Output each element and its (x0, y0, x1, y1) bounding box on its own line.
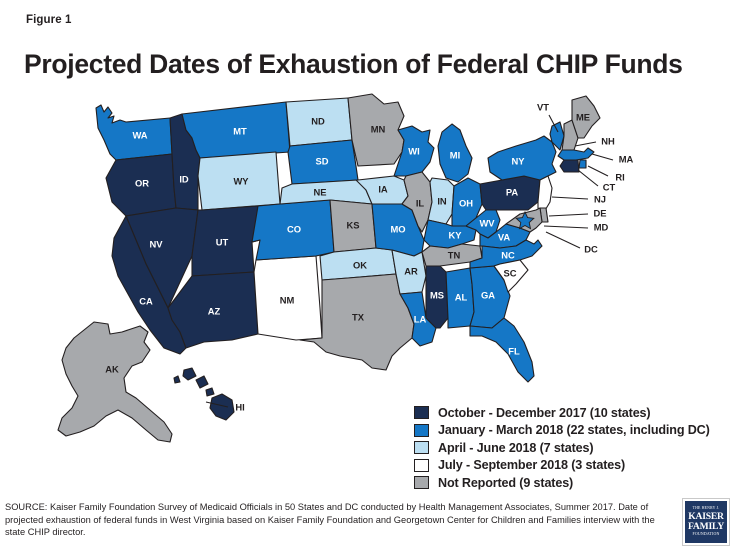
legend-label-apr-jun-2018: April - June 2018 (7 states) (438, 441, 593, 455)
legend-swatch-jan-mar-2018 (414, 424, 429, 437)
svg-text:RI: RI (615, 171, 624, 182)
map-states: WA OR ID MT WY NV UT CA AZ NM CO ND SD N… (58, 94, 600, 442)
kff-logo-inner: THE HENRY J. KAISER FAMILY FOUNDATION (685, 501, 727, 543)
svg-text:DE: DE (593, 207, 606, 218)
svg-text:DC: DC (584, 243, 598, 254)
state-OR[interactable] (106, 154, 176, 216)
legend-label-jul-sep-2018: July - September 2018 (3 states) (438, 458, 625, 472)
state-IN[interactable] (428, 178, 454, 224)
state-NJ[interactable] (538, 176, 552, 212)
svg-text:NJ: NJ (594, 193, 606, 204)
state-FL[interactable] (470, 318, 534, 382)
svg-text:NH: NH (601, 135, 615, 146)
legend-item-4[interactable]: Not Reported (9 states) (414, 474, 714, 492)
legend-item-3[interactable]: July - September 2018 (3 states) (414, 457, 714, 475)
legend-swatch-jul-sep-2018 (414, 459, 429, 472)
svg-text:HI: HI (235, 401, 244, 412)
legend-item-0[interactable]: October - December 2017 (10 states) (414, 404, 714, 422)
kff-logo-line3: FAMILY (688, 522, 724, 532)
state-AZ[interactable] (168, 272, 258, 348)
legend-item-1[interactable]: January - March 2018 (22 states, includi… (414, 422, 714, 440)
state-ME[interactable] (572, 96, 600, 138)
svg-text:CT: CT (603, 181, 616, 192)
legend-swatch-oct-dec-2017 (414, 406, 429, 419)
source-note: SOURCE: Kaiser Family Foundation Survey … (5, 501, 673, 539)
svg-text:MD: MD (594, 221, 609, 232)
state-WY[interactable] (198, 152, 280, 210)
state-NY[interactable] (488, 136, 556, 180)
state-CO[interactable] (252, 200, 334, 260)
footer: SOURCE: Kaiser Family Foundation Survey … (0, 497, 735, 551)
state-NE[interactable] (280, 180, 372, 204)
svg-text:VT: VT (537, 101, 549, 112)
page-title: Projected Dates of Exhaustion of Federal… (24, 49, 683, 80)
state-MI[interactable] (438, 124, 472, 182)
legend-item-2[interactable]: April - June 2018 (7 states) (414, 439, 714, 457)
state-MS[interactable] (426, 266, 448, 328)
state-AK[interactable] (58, 322, 172, 442)
state-MN[interactable] (348, 94, 404, 166)
svg-text:MA: MA (619, 153, 634, 164)
state-SD[interactable] (288, 140, 358, 184)
legend-swatch-not-reported (414, 476, 429, 489)
state-NM[interactable] (254, 256, 322, 340)
state-PA[interactable] (480, 176, 540, 210)
kff-logo-line4: FOUNDATION (692, 533, 719, 537)
legend-label-jan-mar-2018: January - March 2018 (22 states, includi… (438, 423, 710, 437)
state-ND[interactable] (286, 98, 352, 146)
legend-swatch-apr-jun-2018 (414, 441, 429, 454)
state-AL[interactable] (446, 268, 474, 328)
map-legend: October - December 2017 (10 states) Janu… (414, 404, 714, 492)
state-MT[interactable] (182, 102, 290, 158)
state-RI[interactable] (579, 160, 586, 168)
state-UT[interactable] (192, 206, 260, 276)
legend-label-oct-dec-2017: October - December 2017 (10 states) (438, 406, 650, 420)
state-CT[interactable] (560, 160, 579, 172)
state-KS[interactable] (330, 200, 376, 252)
legend-label-not-reported: Not Reported (9 states) (438, 476, 573, 490)
kff-logo: THE HENRY J. KAISER FAMILY FOUNDATION (682, 498, 730, 546)
state-HI[interactable] (174, 368, 234, 420)
figure-label: Figure 1 (26, 14, 72, 26)
state-MA[interactable] (558, 148, 594, 160)
state-WA[interactable] (96, 105, 172, 160)
